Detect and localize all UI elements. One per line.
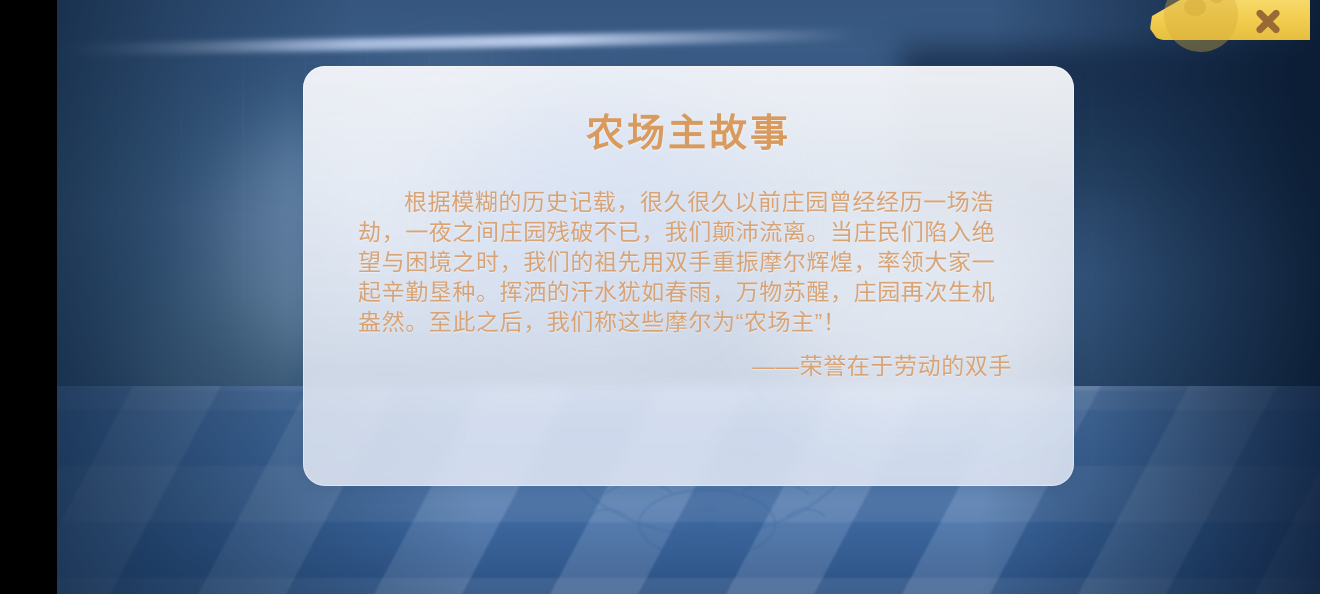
decoration-dot bbox=[1210, 0, 1223, 3]
farmer-story-dialog: 农场主故事 根据模糊的历史记载，很久很久以前庄园曾经经历一场浩劫，一夜之间庄园残… bbox=[303, 66, 1074, 486]
dialog-body: 根据模糊的历史记载，很久很久以前庄园曾经经历一场浩劫，一夜之间庄园残破不已，我们… bbox=[358, 187, 1014, 337]
game-screen: SMC 农场主故事 根据模糊的历史记载，很久很久以前庄园曾经经历一场浩劫，一夜之… bbox=[0, 0, 1320, 594]
dialog-title: 农场主故事 bbox=[303, 102, 1074, 157]
story-signature: ——荣誉在于劳动的双手 bbox=[303, 351, 1012, 381]
letterbox-left bbox=[0, 0, 57, 594]
story-paragraph: 根据模糊的历史记载，很久很久以前庄园曾经经历一场浩劫，一夜之间庄园残破不已，我们… bbox=[358, 187, 1014, 337]
close-x-icon[interactable] bbox=[1250, 4, 1284, 38]
close-button[interactable] bbox=[1150, 0, 1310, 40]
decoration-dot bbox=[1184, 0, 1206, 16]
